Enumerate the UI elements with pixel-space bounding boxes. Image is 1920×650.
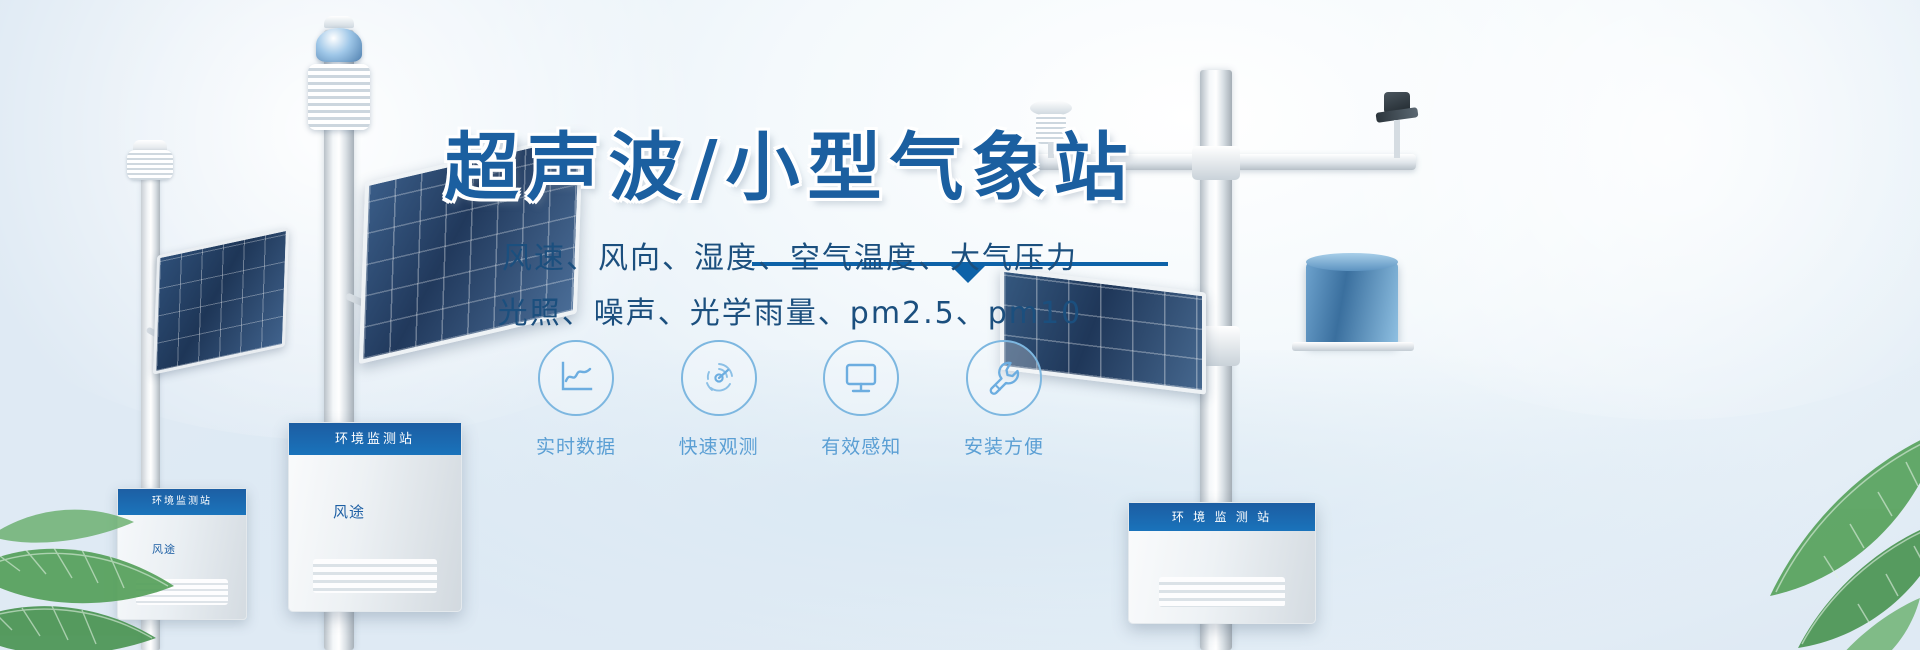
product-banner: 环境监测站 风途 环境监测站 风途 环 境 监 (0, 0, 1920, 650)
line-chart-icon (556, 359, 596, 397)
feature-label: 有效感知 (821, 432, 901, 459)
feature-item-effective-sensing[interactable]: 有效感知 (805, 340, 917, 459)
feature-label: 实时数据 (536, 432, 616, 459)
subtitle-line-1: 风速、风向、湿度、空气温度、大气压力 (440, 233, 1140, 277)
feature-item-fast-observation[interactable]: 快速观测 (663, 340, 775, 459)
feature-icon-circle (681, 340, 757, 416)
wrench-icon (984, 358, 1024, 398)
feature-icon-circle (538, 340, 614, 416)
feature-icon-circle (966, 340, 1042, 416)
feature-label: 快速观测 (679, 432, 759, 459)
feature-item-realtime-data[interactable]: 实时数据 (520, 340, 632, 459)
feature-item-easy-install[interactable]: 安装方便 (948, 340, 1060, 459)
page-title: 超声波/小型气象站 (440, 108, 1140, 215)
banner-content: 超声波/小型气象站 风速、风向、湿度、空气温度、大气压力 光照、噪声、光学雨量、… (0, 0, 1920, 650)
feature-label: 安装方便 (964, 432, 1044, 459)
radar-scan-icon (698, 357, 740, 399)
monitor-icon (841, 360, 881, 396)
feature-icon-circle (823, 340, 899, 416)
subtitle-line-2: 光照、噪声、光学雨量、pm2.5、pm10 (440, 288, 1140, 332)
feature-list: 实时数据 快速观测 (520, 340, 1060, 459)
